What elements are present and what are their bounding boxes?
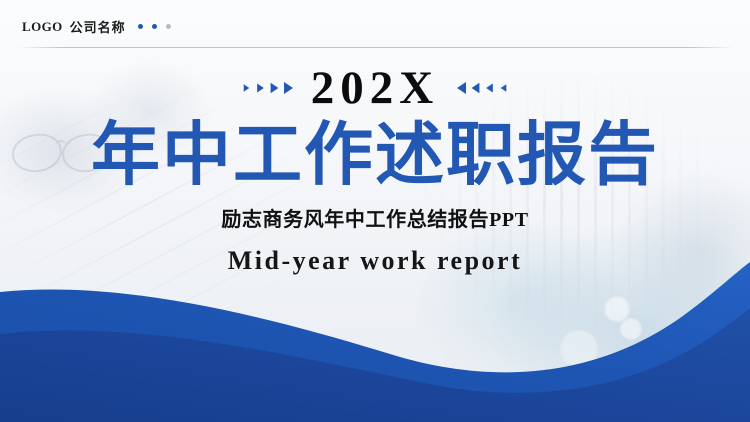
year-row: 202X bbox=[0, 60, 750, 116]
triangle-left-icon-2 bbox=[472, 83, 480, 93]
triangle-left-icon-4 bbox=[501, 84, 507, 91]
subtitle-chinese: 励志商务风年中工作总结报告PPT bbox=[0, 203, 750, 232]
company-name-label: 公司名称 bbox=[70, 17, 126, 36]
logo-text: LOGO bbox=[22, 19, 63, 35]
title-block: 202X 年中工作述职报告 励志商务风年中工作总结报告PPT Mid-year … bbox=[0, 60, 750, 276]
triangle-right-icon-4 bbox=[284, 82, 293, 94]
header-divider bbox=[18, 47, 734, 48]
slide-header: LOGO 公司名称 bbox=[0, 0, 750, 48]
slide-root: LOGO 公司名称 202X bbox=[0, 0, 750, 422]
year-label: 202X bbox=[311, 65, 439, 112]
triangle-right-icon-3 bbox=[270, 83, 278, 93]
arrows-left-group bbox=[242, 82, 293, 94]
arrows-right-group bbox=[457, 82, 508, 94]
bottom-wave-decoration bbox=[0, 262, 750, 422]
triangle-left-icon-3 bbox=[486, 84, 493, 93]
triangle-right-icon-1 bbox=[243, 84, 249, 91]
triangle-left-icon-1 bbox=[457, 82, 466, 94]
dot-icon-2 bbox=[152, 24, 157, 29]
logo-dots-group bbox=[138, 24, 171, 29]
dot-icon-3 bbox=[166, 24, 171, 29]
dot-icon-1 bbox=[138, 24, 143, 29]
logo-block[interactable]: LOGO 公司名称 bbox=[22, 17, 171, 36]
triangle-right-icon-2 bbox=[257, 84, 264, 93]
main-title: 年中工作述职报告 bbox=[0, 118, 750, 193]
